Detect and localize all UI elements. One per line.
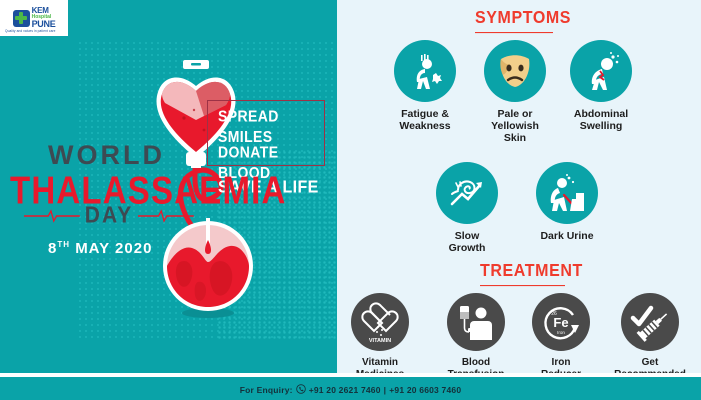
slogan-box: SPREAD SMILES DONATE BLOOD SAVE A LIFE [207, 100, 325, 166]
symptom-label: Abdominal Swelling [568, 108, 634, 132]
day-row: DAY [24, 205, 194, 227]
enquiry-label: For Enquiry: [240, 385, 293, 395]
abdominal-pain-person-icon [570, 40, 632, 102]
logo-city: PUNE [32, 20, 56, 29]
symptom-label-line2: Swelling [580, 120, 623, 132]
symptom-item-fatigue: Fatigue & Weakness [393, 40, 457, 132]
treatment-item-vitamin: VITAMIN Vitamin Medicines [349, 293, 411, 381]
symptom-label-line2: Yellowish Skin [491, 120, 539, 144]
treatment-item-iron-reducer: Fe 26 Iron Iron Reducer [532, 293, 590, 381]
symptom-label-line1: Slow Growth [449, 230, 486, 254]
symptom-label: Pale or Yellowish Skin [481, 108, 549, 144]
symptom-label: Fatigue & Weakness [393, 108, 457, 132]
symptom-label-line1: Pale or [497, 108, 532, 120]
heartbeat-line-icon-left [24, 209, 80, 223]
symptom-label: Dark Urine [535, 230, 599, 242]
svg-text:Iron: Iron [557, 330, 565, 335]
treatment-heading: TREATMENT [480, 262, 565, 286]
hospital-logo: KEM Hospital PUNE Quality and values in … [0, 0, 68, 36]
hero-panel: KEM Hospital PUNE Quality and values in … [0, 0, 337, 375]
footer-bar: For Enquiry: +91 20 2621 7460 | +91 20 6… [0, 375, 701, 400]
symptoms-heading: SYMPTOMS [475, 9, 553, 33]
pale-face-mask-icon [484, 40, 546, 102]
phone-number-1[interactable]: +91 20 2621 7460 [309, 385, 381, 395]
svg-text:26: 26 [551, 311, 557, 317]
logo-tagline: Quality and values in patient care [5, 29, 56, 33]
blood-filled-globe-icon [158, 218, 258, 318]
symptom-item-slow-growth: Slow Growth [435, 162, 499, 254]
phone-number-2[interactable]: +91 20 6603 7460 [389, 385, 461, 395]
symptom-item-dark-urine: Dark Urine [535, 162, 599, 242]
date-suffix: TH [57, 240, 70, 249]
symptom-label: Slow Growth [435, 230, 499, 254]
dark-urine-toilet-icon [536, 162, 598, 224]
syringe-check-icon [621, 293, 679, 351]
tired-person-icon [394, 40, 456, 102]
date-rest: MAY 2020 [75, 240, 152, 257]
snail-growth-arrow-icon [436, 162, 498, 224]
heartbeat-line-icon-right [138, 209, 194, 223]
iron-fe-element-icon: Fe 26 Iron [532, 293, 590, 351]
symptom-label-line2: Weakness [399, 120, 450, 132]
phone-separator: | [384, 385, 387, 395]
symptom-label-line1: Abdominal [574, 108, 628, 120]
iv-drip-patient-icon [447, 293, 505, 351]
poster-canvas: KEM Hospital PUNE Quality and values in … [0, 0, 701, 400]
symptom-item-pale-skin: Pale or Yellowish Skin [481, 40, 549, 144]
treatment-item-blood-transfusion: Blood Transfusion [440, 293, 512, 381]
medical-cross-icon [13, 10, 30, 27]
title-world: WORLD [48, 140, 165, 171]
event-date: 8TH MAY 2020 [48, 240, 152, 257]
svg-text:Fe: Fe [553, 315, 568, 330]
symptom-label-line1: Dark Urine [540, 230, 593, 242]
vitamin-capsule-icon: VITAMIN [351, 293, 409, 351]
phone-icon [296, 384, 306, 396]
title-day: DAY [80, 203, 138, 229]
slogan-line-1: SPREAD SMILES [218, 106, 324, 146]
symptom-item-abdominal-swelling: Abdominal Swelling [568, 40, 634, 132]
symptom-label-line1: Fatigue & [401, 108, 449, 120]
date-number: 8 [48, 240, 57, 257]
svg-text:VITAMIN: VITAMIN [369, 338, 391, 343]
